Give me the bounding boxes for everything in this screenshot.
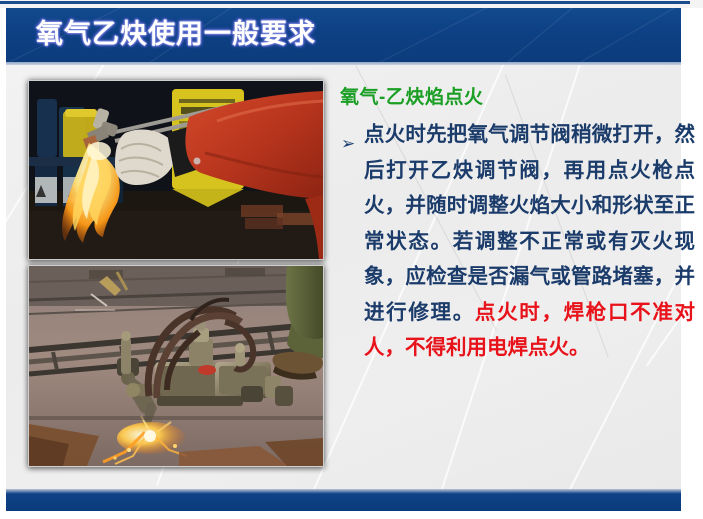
- torch-ignition-photo: [28, 80, 324, 260]
- torch-ignition-illustration: [29, 81, 323, 259]
- section-heading: 氧气-乙炔焰点火: [340, 85, 695, 111]
- header-swoosh-line: [476, 8, 681, 62]
- arrow-bullet-icon: ➢: [341, 136, 359, 152]
- header-swoosh-line: [336, 8, 681, 62]
- bullet-item: ➢ 点火时先把氧气调节阀稍微打开，然后打开乙炔调节阀，再用点火枪点火，并随时调整…: [337, 117, 695, 366]
- flame-cutting-illustration: [29, 266, 323, 466]
- header-swoosh-line: [566, 8, 681, 62]
- page-title: 氧气乙炔使用一般要求: [36, 14, 316, 54]
- slide-root: 氧气乙炔使用一般要求: [0, 0, 703, 519]
- flame-cutting-machine-photo: [28, 265, 324, 467]
- text-content-column: 氧气-乙炔焰点火 ➢ 点火时先把氧气调节阀稍微打开，然后打开乙炔调节阀，再用点火…: [337, 85, 695, 366]
- paragraph-normal-text: 点火时先把氧气调节阀稍微打开，然后打开乙炔调节阀，再用点火枪点火，并随时调整火焰…: [364, 123, 695, 324]
- top-accent-strip: [0, 0, 703, 8]
- slide-footer-bar: [6, 489, 681, 511]
- bullet-paragraph: 点火时先把氧气调节阀稍微打开，然后打开乙炔调节阀，再用点火枪点火，并随时调整火焰…: [364, 117, 695, 366]
